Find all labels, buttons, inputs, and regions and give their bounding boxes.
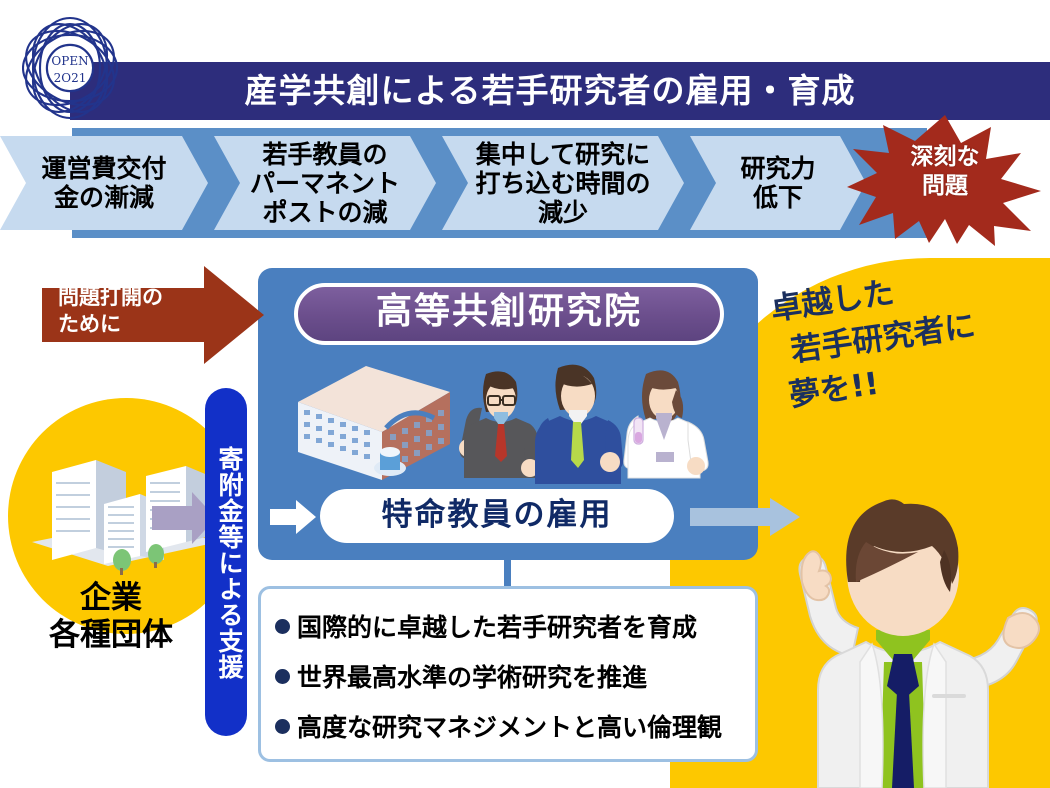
bullet-dot-icon [275, 669, 290, 684]
flow-step-line: 金の漸減 [54, 183, 154, 212]
flow-step-line: 減少 [538, 198, 588, 227]
problem-breakthrough-label: 問題打開の ために [58, 284, 208, 339]
logo-line-1: OPEN [51, 54, 88, 68]
flow-step-line: ポストの減 [262, 198, 387, 227]
objective-text: 高度な研究マネジメントと高い倫理観 [297, 708, 722, 744]
test-tube-icon [634, 418, 643, 444]
list-item: 高度な研究マネジメントと高い倫理観 [275, 701, 747, 751]
infographic-canvas: 産学共創による若手研究者の雇用・育成 OPEN 2O21 運営費交付 金の漸減 … [0, 0, 1050, 788]
companies-line: 企業 [6, 580, 216, 617]
list-item: 国際的に卓越した若手研究者を育成 [275, 601, 747, 651]
support-bar-label: 寄附金等による支援 [205, 398, 247, 728]
flow-step-permanent-post-decline: 若手教員の パーマネント ポストの減 [214, 136, 436, 230]
flow-step-line: 若手教員の [262, 140, 387, 169]
flow-step-line: 打ち込む時間の [475, 169, 650, 198]
flow-step-research-power-drop: 研究力 低下 [690, 136, 866, 230]
page-title: 産学共創による若手研究者の雇用・育成 [130, 63, 970, 119]
flow-step-line: 集中して研究に [476, 140, 650, 169]
flow-step-line: パーマネント [250, 169, 400, 198]
university-building-icon [298, 366, 450, 480]
companies-line: 各種団体 [6, 617, 216, 654]
flow-step-research-time-decline: 集中して研究に 打ち込む時間の 減少 [442, 136, 684, 230]
red-arrow-line: 問題打開の [58, 284, 208, 311]
red-arrow-line: ために [58, 311, 208, 338]
researcher-lab-coat-icon [756, 486, 1050, 788]
institute-illustration [290, 356, 742, 484]
flow-step-line: 研究力 [740, 154, 815, 183]
list-item: 世界最高水準の学術研究を推進 [275, 651, 747, 701]
flow-step-funding-decline: 運営費交付 金の漸減 [0, 136, 208, 230]
objectives-box: 国際的に卓越した若手研究者を育成 世界最高水準の学術研究を推進 高度な研究マネジ… [258, 586, 758, 762]
institute-badge-label: 高等共創研究院 [294, 283, 724, 345]
employment-label: 特命教員の雇用 [320, 489, 674, 543]
bullet-dot-icon [275, 719, 290, 734]
man-navy-suit-icon [535, 365, 623, 484]
objective-text: 国際的に卓越した若手研究者を育成 [297, 608, 697, 644]
man-gray-suit-glasses-icon [459, 371, 542, 478]
starburst-label: 深刻な 問題 [872, 143, 1018, 201]
logo-line-2: 2O21 [54, 71, 87, 85]
woman-lab-coat-icon [624, 370, 708, 478]
employment-in-arrow-icon [270, 500, 316, 534]
starburst-line: 深刻な [911, 144, 980, 170]
companies-label: 企業 各種団体 [6, 580, 216, 653]
open-2021-seal-icon: OPEN 2O21 [22, 12, 118, 124]
flow-step-line: 低下 [753, 183, 803, 212]
bullet-dot-icon [275, 619, 290, 634]
starburst-line: 問題 [922, 173, 968, 199]
flow-step-line: 運営費交付 [41, 154, 166, 183]
objective-text: 世界最高水準の学術研究を推進 [297, 658, 647, 694]
